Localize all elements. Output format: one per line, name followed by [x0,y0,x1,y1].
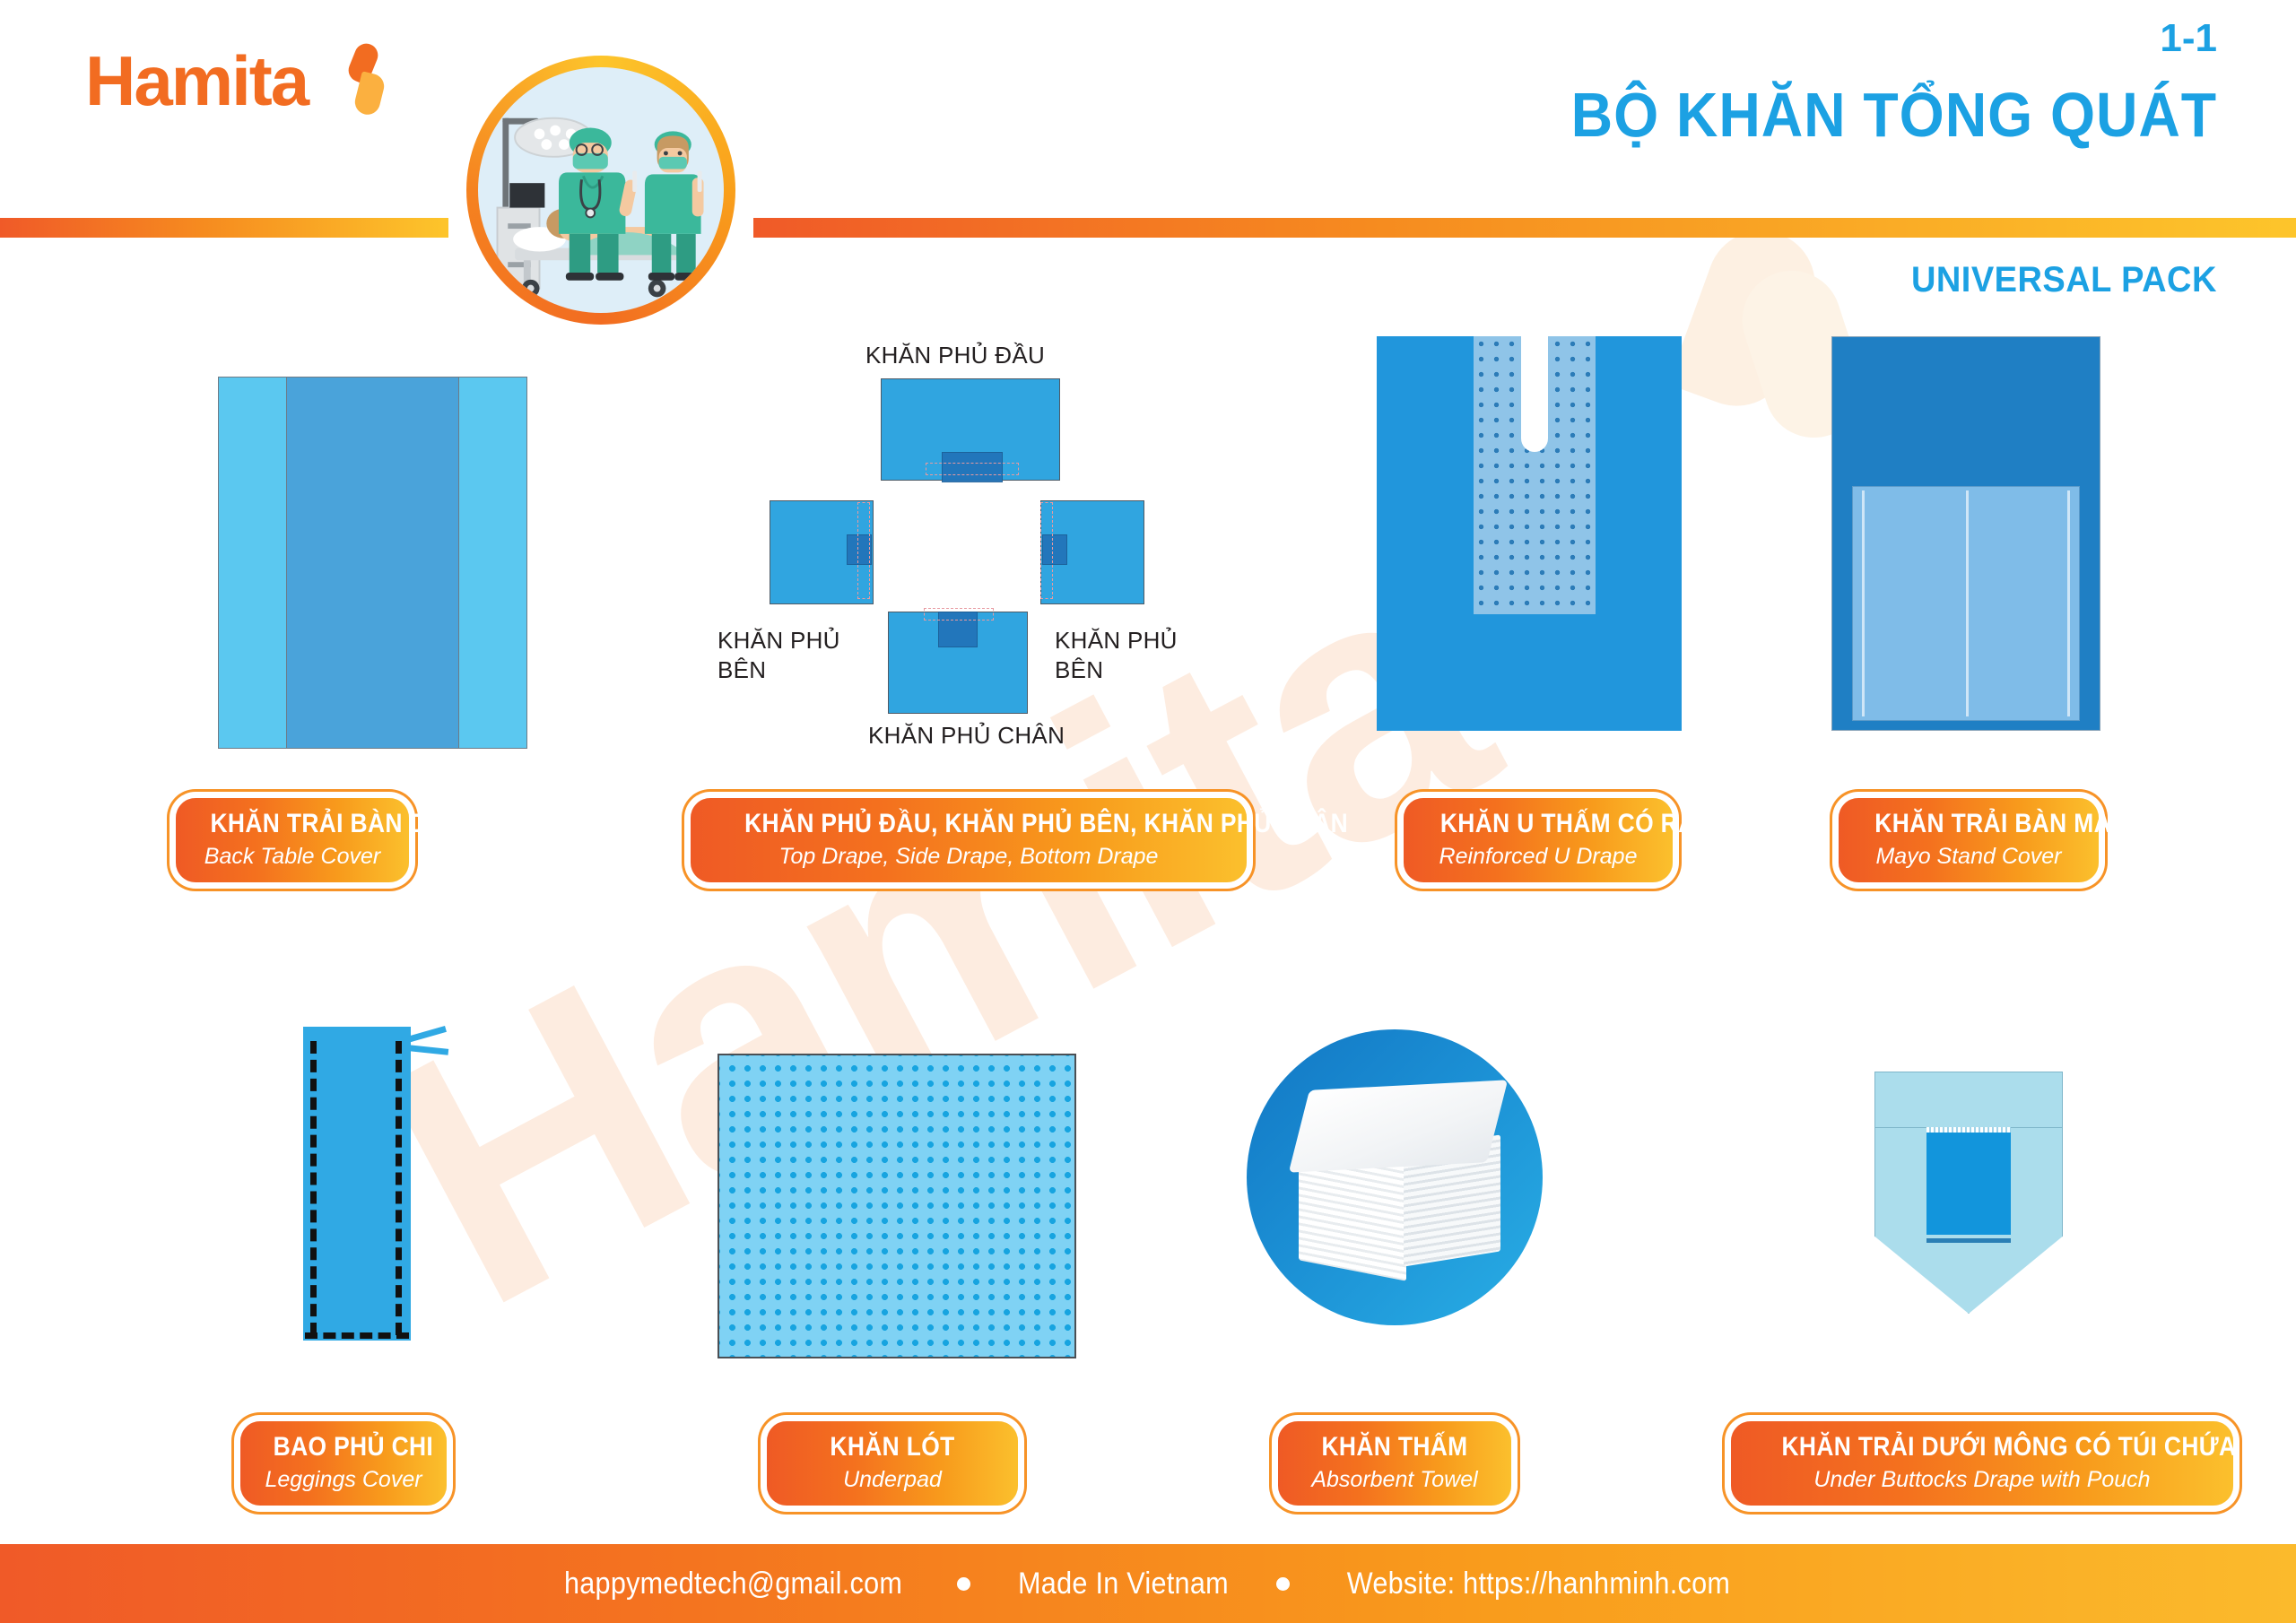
product-name-en: Underpad [790,1466,995,1493]
leggings-stitch-left [310,1041,317,1335]
u-drape-graphic [1377,336,1682,731]
mayo-fold-line [2067,490,2070,716]
product-image-drape-set: KHĂN PHỦ ĐẦU KHĂN PHỦ BÊN KHĂN PHỦ [735,341,1256,744]
product-label-leggings-cover[interactable]: BAO PHỦ CHI Leggings Cover [240,1421,447,1506]
brand-logo: Hamita [85,40,308,122]
absorbent-towel-graphic [1247,1029,1543,1325]
u-drape-slot [1521,333,1548,452]
drape-fluid-pouch [1926,1127,2011,1235]
leggings-cover-graphic [303,1027,411,1341]
diagram-label-right: KHĂN PHỦ BÊN [1055,626,1178,684]
mayo-stand-pocket [1852,486,2080,721]
mayo-fold-line [1862,490,1865,716]
cover-panel-center [286,378,459,748]
leggings-stitch-bottom [305,1332,409,1339]
product-image-mayo-stand-cover [1831,336,2100,731]
header-divider-left [0,218,448,238]
product-image-back-table-cover [218,377,527,749]
product-label-underpad[interactable]: KHĂN LÓT Underpad [767,1421,1018,1506]
surgery-illustration [478,67,724,313]
page-number: 1-1 [2160,16,2217,61]
underpad-graphic [717,1054,1076,1358]
product-label-back-table-cover[interactable]: KHĂN TRẢI BÀN DỤNG CỤ Back Table Cover [176,798,409,882]
header-divider-right [753,218,2296,238]
footer-bar: happymedtech@gmail.com Made In Vietnam W… [0,1544,2296,1623]
product-image-absorbent-towel [1247,1029,1543,1325]
product-name-en: Back Table Cover [199,843,386,870]
product-name-en: Absorbent Towel [1301,1466,1488,1493]
product-image-underpad [717,1054,1076,1358]
towel-stack-top [1289,1080,1508,1172]
product-image-leggings-cover [303,1027,411,1341]
product-name-vi: BAO PHỦ CHI [274,1432,414,1463]
cover-panel-right [459,378,526,748]
catalog-page: Hamita Hamita 1-1 BỘ KHĂN TỔNG QUÁT UNIV… [0,0,2296,1623]
product-label-mayo-stand-cover[interactable]: KHĂN TRẢI BÀN MAYO Mayo Stand Cover [1839,798,2099,882]
mayo-fold-line [1966,490,1969,716]
under-buttocks-drape-graphic [1874,1072,2063,1314]
product-name-vi: KHĂN TRẢI DƯỚI MÔNG CÓ TÚI CHỨA DỊCH [1781,1432,2182,1463]
mayo-stand-graphic [1831,336,2100,731]
product-name-en: Mayo Stand Cover [1862,843,2075,870]
product-name-en: Under Buttocks Drape with Pouch [1754,1466,2210,1493]
product-name-en: Reinforced U Drape [1427,843,1649,870]
product-name-vi: KHĂN TRẢI BÀN DỤNG CỤ [210,809,374,840]
product-name-en: Leggings Cover [264,1466,423,1493]
bottom-drape-adhesive [924,608,994,621]
product-label-absorbent-towel[interactable]: KHĂN THẤM Absorbent Towel [1278,1421,1511,1506]
product-name-vi: KHĂN PHỦ ĐẦU, KHĂN PHỦ BÊN, KHĂN PHỦ CHÂ… [744,809,1193,840]
product-image-under-buttocks-drape [1874,1072,2063,1314]
side-drape-right-adhesive [1040,502,1053,599]
drape-set-diagram: KHĂN PHỦ ĐẦU KHĂN PHỦ BÊN KHĂN PHỦ [735,341,1256,744]
diagram-label-top: KHĂN PHỦ ĐẦU [865,341,1045,370]
cover-panel-left [219,378,286,748]
footer-separator-dot [1276,1577,1290,1591]
footer-separator-dot [957,1577,970,1591]
leggings-body [303,1027,411,1341]
product-name-vi: KHĂN TRẢI BÀN MAYO [1874,809,2062,840]
footer-email[interactable]: happymedtech@gmail.com [564,1567,902,1601]
watermark-leaf-icon [1667,216,1830,421]
product-image-reinforced-u-drape [1377,336,1682,731]
drape-pouch-bar [1926,1238,2011,1243]
side-drape-left-adhesive [857,502,870,599]
surgery-team-icon [466,56,735,325]
footer-website[interactable]: Website: https://hanhminh.com [1346,1567,1729,1601]
page-subtitle: UNIVERSAL PACK [1911,260,2217,300]
back-table-cover-graphic [218,377,527,749]
leggings-stitch-right [396,1041,402,1335]
product-name-vi: KHĂN LÓT [803,1432,983,1463]
product-name-en: Top Drape, Side Drape, Bottom Drape [714,843,1223,870]
towel-stack [1284,1085,1509,1278]
diagram-label-bottom: KHĂN PHỦ CHÂN [868,721,1065,751]
drape-pouch-edge [1926,1127,2011,1133]
product-label-under-buttocks-drape[interactable]: KHĂN TRẢI DƯỚI MÔNG CÓ TÚI CHỨA DỊCH Und… [1731,1421,2233,1506]
product-label-reinforced-u-drape[interactable]: KHĂN U THẤM CÓ RÃNH Reinforced U Drape [1404,798,1673,882]
top-drape-adhesive [926,463,1019,475]
diagram-label-left: KHĂN PHỦ BÊN [717,626,840,684]
page-title: BỘ KHĂN TỔNG QUÁT [1571,79,2217,151]
drape-top-band [1875,1072,2064,1128]
product-name-vi: KHĂN U THẤM CÓ RÃNH [1440,809,1636,840]
product-label-drape-set[interactable]: KHĂN PHỦ ĐẦU, KHĂN PHỦ BÊN, KHĂN PHỦ CHÂ… [691,798,1247,882]
product-name-vi: KHĂN THẤM [1312,1432,1476,1463]
footer-origin: Made In Vietnam [1018,1567,1229,1601]
